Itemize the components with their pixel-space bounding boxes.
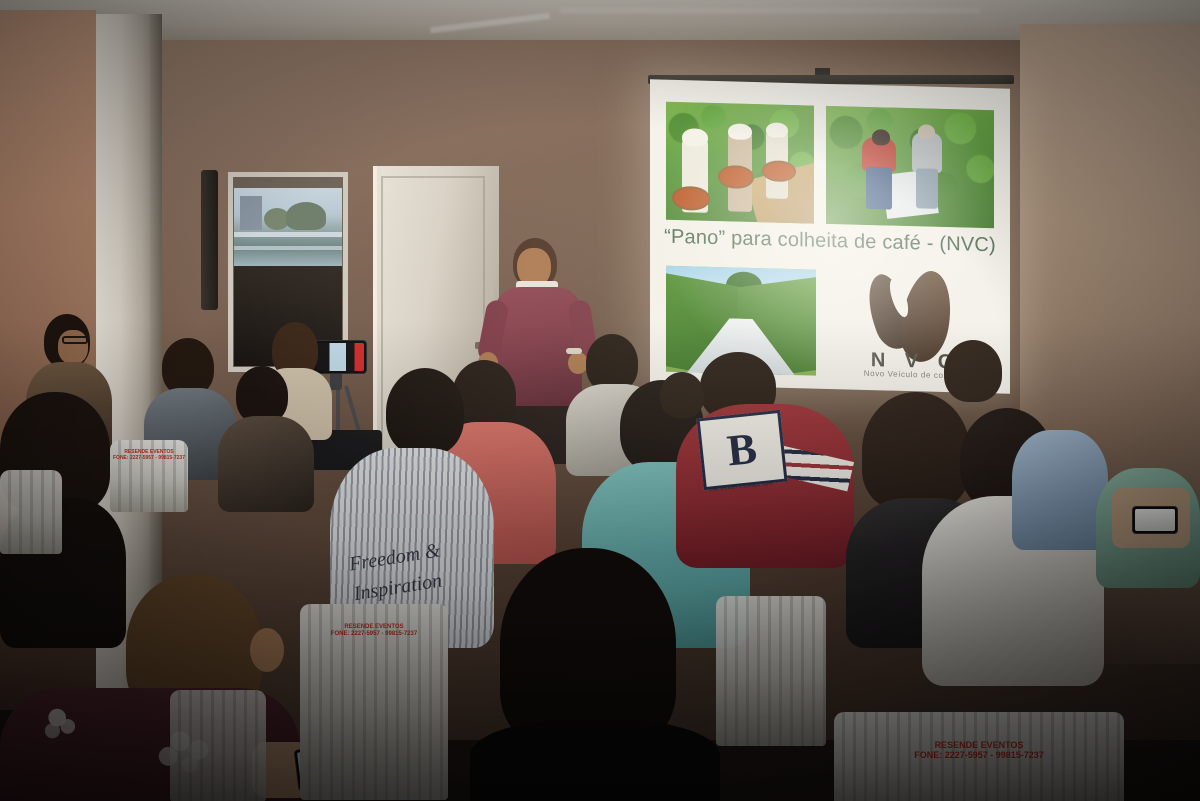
- smartphone-on-tripod[interactable]: [313, 340, 367, 374]
- rugby-patch-letter: B: [725, 427, 759, 474]
- speaker-column: [201, 170, 218, 310]
- chair-brand-line1: RESENDE EVENTOS: [344, 624, 403, 630]
- chair-far-left[interactable]: [0, 470, 62, 554]
- chair-brand-line2: FONE: 2227-5957 - 99815-7237: [331, 631, 417, 637]
- tripod-head: [330, 372, 342, 390]
- slide-photo-workers-tarp: [826, 106, 994, 228]
- tripod-phone-screen: [316, 343, 364, 371]
- picking-basket-3: [762, 160, 796, 182]
- right-phone-screen: [1135, 509, 1175, 531]
- picker-hat-1: [682, 128, 708, 147]
- man-blue-shirt-right-head: [944, 340, 1002, 402]
- chair-brand-line2: FONE: 2227-5957 - 99815-7237: [113, 455, 185, 461]
- worker-head-1: [872, 129, 890, 145]
- chair-brand-line1: RESENDE EVENTOS: [935, 740, 1024, 750]
- man-striped-head: [386, 368, 464, 456]
- slide-photo-coffee-pickers: [666, 102, 814, 224]
- window-glass: [234, 188, 342, 266]
- chair-mid-right[interactable]: [716, 596, 826, 746]
- man-backrow-center-body: [218, 416, 314, 512]
- chair-left-back[interactable]: RESENDE EVENTOS FONE: 2227-5957 - 99815-…: [110, 440, 188, 512]
- chair-slats: [716, 596, 826, 746]
- worker-light-pants: [916, 168, 938, 209]
- rugby-b-patch: B: [696, 410, 787, 490]
- woman-dark-hair-foreground-body: [470, 720, 720, 801]
- glasses-icon: [62, 336, 88, 344]
- presentation-room-photo: “Pano” para colheita de café - (NVC) N V…: [0, 0, 1200, 801]
- window-rail-upper: [234, 232, 342, 237]
- picking-basket-1: [672, 186, 710, 211]
- man-blue-shirt-right-body: [1012, 430, 1108, 550]
- worker-blue-jeans: [866, 167, 892, 210]
- window-rail-lower: [234, 246, 342, 250]
- ceiling-seam: [430, 13, 550, 34]
- chair-brand-text: RESENDE EVENTOS FONE: 2227-5957 - 99815-…: [300, 624, 448, 638]
- chair-slats: [0, 470, 62, 554]
- picking-basket-2: [718, 165, 754, 189]
- presenter-wristwatch: [566, 348, 582, 354]
- woman-curly-head: [862, 392, 970, 510]
- tee-floral-print-left: [38, 700, 86, 744]
- man-far-right-back-head: [660, 372, 704, 418]
- chair-brand-text: RESENDE EVENTOS FONE: 2227-5957 - 99815-…: [834, 740, 1124, 761]
- chair-foreground-left[interactable]: [170, 690, 266, 801]
- picker-hat-2: [728, 123, 752, 140]
- slide-caption: “Pano” para colheita de café - (NVC): [650, 225, 1010, 257]
- ceiling-seam-secondary: [560, 8, 980, 13]
- man-maroon-tee-ear: [250, 628, 284, 672]
- chair-foreground-right[interactable]: RESENDE EVENTOS FONE: 2227-5957 - 99815-…: [834, 712, 1124, 801]
- picker-hat-3: [766, 122, 788, 138]
- window-building: [240, 196, 262, 230]
- window-tree: [286, 202, 326, 230]
- woman-dark-hair-foreground-head: [500, 548, 676, 748]
- smartphone-handheld-right[interactable]: [1132, 506, 1178, 534]
- presenter-right-hand: [568, 352, 588, 374]
- worker-head-2: [918, 124, 935, 139]
- chair-slats: [170, 690, 266, 801]
- chair-brand-line2: FONE: 2227-5957 - 99815-7237: [914, 750, 1044, 760]
- chair-brand-text: RESENDE EVENTOS FONE: 2227-5957 - 99815-…: [110, 450, 188, 462]
- chair-foreground-center[interactable]: RESENDE EVENTOS FONE: 2227-5957 - 99815-…: [300, 604, 448, 800]
